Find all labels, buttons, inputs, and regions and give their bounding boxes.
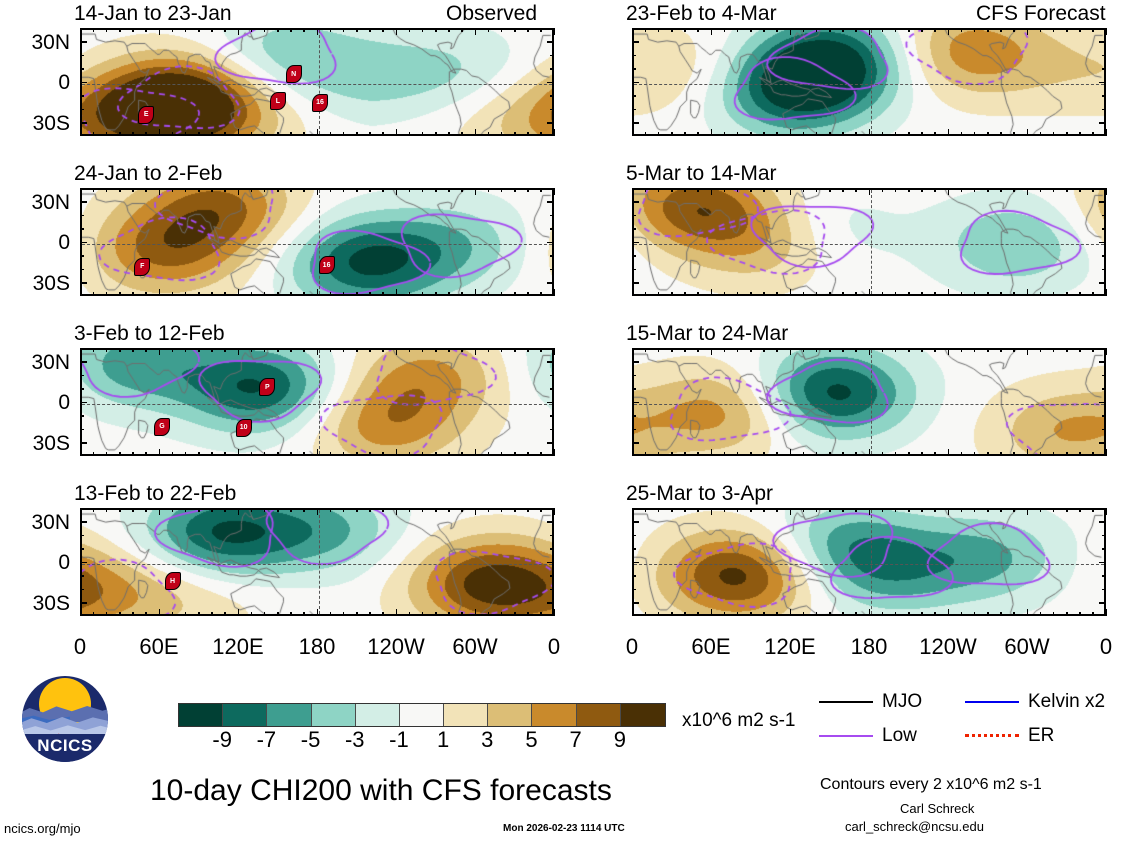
axis-tick — [448, 612, 450, 616]
axis-tick — [697, 292, 699, 296]
legend-item: Low — [819, 726, 917, 745]
axis-tick — [1102, 415, 1106, 417]
shaded-field — [82, 350, 554, 456]
axis-tick — [711, 289, 713, 296]
colorbar-tick-label: 7 — [570, 729, 582, 751]
axis-tick — [934, 292, 936, 296]
axis-tick — [790, 129, 792, 136]
axis-tick — [224, 348, 226, 352]
axis-tick — [763, 132, 765, 136]
legend-line-swatch — [965, 701, 1019, 703]
colorbar-tick-label: -1 — [389, 729, 409, 751]
axis-tick — [803, 452, 805, 456]
axis-tick — [145, 292, 147, 296]
axis-tick — [554, 449, 556, 456]
axis-tick — [948, 129, 950, 136]
axis-tick — [1066, 292, 1068, 296]
axis-tick — [80, 129, 82, 136]
axis-tick — [921, 452, 923, 456]
axis-tick — [461, 612, 463, 616]
axis-tick — [1027, 129, 1029, 136]
axis-tick — [1013, 188, 1015, 192]
axis-tick — [409, 452, 411, 456]
x-axis-tick-label: 120W — [919, 636, 976, 658]
axis-tick — [1027, 449, 1029, 456]
axis-tick — [264, 452, 266, 456]
axis-tick — [1099, 282, 1106, 284]
axis-tick — [396, 508, 398, 515]
axis-tick — [1053, 348, 1055, 352]
axis-tick — [855, 348, 857, 352]
axis-tick — [80, 242, 87, 244]
axis-tick — [396, 348, 398, 355]
axis-tick — [1092, 612, 1094, 616]
axis-tick — [330, 188, 332, 192]
axis-tick — [475, 449, 477, 456]
axis-tick — [987, 508, 989, 512]
axis-tick — [987, 132, 989, 136]
axis-tick — [422, 452, 424, 456]
axis-tick — [829, 612, 831, 616]
axis-tick — [1040, 188, 1042, 192]
axis-tick — [550, 548, 554, 550]
axis-tick — [1099, 402, 1106, 404]
axis-tick — [303, 612, 305, 616]
axis-tick — [550, 269, 554, 271]
axis-tick — [547, 402, 554, 404]
axis-tick — [1102, 109, 1106, 111]
axis-tick — [224, 292, 226, 296]
axis-tick — [658, 348, 660, 352]
axis-tick — [737, 612, 739, 616]
axis-tick — [1066, 452, 1068, 456]
axis-tick — [921, 132, 923, 136]
axis-tick — [1027, 508, 1029, 515]
axis-tick — [1000, 292, 1002, 296]
axis-tick — [1040, 612, 1042, 616]
axis-tick — [132, 132, 134, 136]
axis-tick — [475, 289, 477, 296]
axis-tick — [172, 292, 174, 296]
axis-tick — [632, 129, 634, 136]
axis-tick — [855, 292, 857, 296]
axis-tick — [1000, 508, 1002, 512]
axis-tick — [711, 348, 713, 355]
axis-tick — [763, 508, 765, 512]
axis-tick — [238, 449, 240, 456]
map-canvas: H — [80, 508, 554, 616]
axis-tick — [961, 612, 963, 616]
axis-tick — [790, 348, 792, 355]
axis-tick — [382, 132, 384, 136]
colorbar-swatch — [312, 704, 356, 726]
axis-tick — [895, 132, 897, 136]
axis-tick — [514, 292, 516, 296]
dateline-marker — [319, 190, 320, 294]
storm-marker: G — [154, 418, 170, 436]
axis-tick — [488, 188, 490, 192]
axis-tick — [763, 348, 765, 352]
axis-tick — [224, 612, 226, 616]
axis-tick — [80, 535, 84, 537]
axis-tick — [974, 132, 976, 136]
axis-tick — [1053, 612, 1055, 616]
axis-tick — [369, 132, 371, 136]
axis-tick — [303, 188, 305, 192]
legend-item: Kelvin x2 — [965, 692, 1105, 711]
axis-tick — [435, 612, 437, 616]
axis-tick — [119, 188, 121, 192]
axis-tick — [80, 201, 87, 203]
axis-tick — [790, 289, 792, 296]
axis-tick — [80, 508, 82, 515]
map-canvas: G10P — [80, 348, 554, 456]
axis-tick — [422, 188, 424, 192]
axis-tick — [185, 452, 187, 456]
axis-tick — [684, 612, 686, 616]
axis-tick — [750, 348, 752, 352]
axis-tick — [632, 255, 636, 257]
axis-tick — [987, 452, 989, 456]
axis-tick — [711, 508, 713, 515]
axis-tick — [80, 575, 84, 577]
axis-tick — [251, 348, 253, 352]
axis-tick — [185, 348, 187, 352]
contour-legend: MJOKelvin x2LowER — [0, 0, 1135, 100]
axis-tick — [882, 452, 884, 456]
colorbar-tick-label: -3 — [345, 729, 365, 751]
axis-tick — [1106, 348, 1108, 355]
axis-tick — [527, 292, 529, 296]
axis-tick — [750, 452, 752, 456]
axis-tick — [119, 292, 121, 296]
axis-tick — [547, 442, 554, 444]
axis-tick — [330, 612, 332, 616]
x-axis-tick-label: 180 — [851, 636, 888, 658]
axis-tick — [1102, 589, 1106, 591]
axis-tick — [185, 292, 187, 296]
axis-tick — [106, 348, 108, 352]
dateline-marker — [319, 350, 320, 454]
axis-tick — [550, 109, 554, 111]
x-axis-tick-label: 60W — [1004, 636, 1049, 658]
axis-tick — [343, 348, 345, 352]
axis-tick — [540, 612, 542, 616]
colorbar-swatch — [577, 704, 621, 726]
axis-tick — [895, 452, 897, 456]
axis-tick — [501, 452, 503, 456]
axis-tick — [987, 292, 989, 296]
x-axis-tick-label: 0 — [626, 636, 638, 658]
axis-tick — [974, 452, 976, 456]
axis-tick — [632, 609, 634, 616]
axis-tick — [908, 292, 910, 296]
axis-tick — [185, 188, 187, 192]
y-axis-tick-label: 0 — [0, 552, 70, 573]
axis-tick — [264, 132, 266, 136]
axis-tick — [1102, 575, 1106, 577]
axis-tick — [475, 609, 477, 616]
axis-tick — [1106, 508, 1108, 515]
axis-tick — [290, 452, 292, 456]
axis-tick — [869, 188, 871, 195]
x-axis-tick-label: 120W — [367, 636, 424, 658]
axis-tick — [632, 375, 636, 377]
equator-line — [634, 404, 1104, 405]
axis-tick — [842, 188, 844, 192]
axis-tick — [501, 132, 503, 136]
axis-tick — [632, 188, 634, 195]
axis-tick — [369, 348, 371, 352]
axis-tick — [211, 348, 213, 352]
axis-tick — [198, 508, 200, 512]
axis-tick — [632, 415, 636, 417]
axis-tick — [514, 188, 516, 192]
axis-tick — [409, 188, 411, 192]
axis-tick — [540, 348, 542, 352]
axis-tick — [1053, 292, 1055, 296]
axis-tick — [330, 508, 332, 512]
axis-tick — [356, 508, 358, 512]
axis-tick — [1092, 132, 1094, 136]
axis-tick — [356, 188, 358, 192]
axis-tick — [264, 292, 266, 296]
axis-tick — [882, 612, 884, 616]
colorbar-swatch — [532, 704, 576, 726]
axis-tick — [132, 612, 134, 616]
axis-tick — [80, 282, 87, 284]
axis-tick — [724, 132, 726, 136]
axis-tick — [238, 609, 240, 616]
axis-tick — [750, 508, 752, 512]
axis-tick — [632, 442, 639, 444]
axis-tick — [658, 452, 660, 456]
axis-tick — [1027, 188, 1029, 195]
axis-tick — [948, 449, 950, 456]
axis-tick — [1102, 255, 1106, 257]
axis-tick — [829, 292, 831, 296]
axis-tick — [409, 132, 411, 136]
axis-tick — [658, 612, 660, 616]
axis-tick — [475, 188, 477, 195]
axis-tick — [238, 508, 240, 515]
axis-tick — [790, 449, 792, 456]
axis-tick — [80, 255, 84, 257]
axis-tick — [987, 348, 989, 352]
axis-tick — [132, 348, 134, 352]
axis-tick — [632, 388, 636, 390]
axis-tick — [382, 612, 384, 616]
axis-tick — [1079, 188, 1081, 192]
axis-tick — [632, 289, 634, 296]
axis-tick — [724, 292, 726, 296]
axis-tick — [303, 132, 305, 136]
axis-tick — [934, 188, 936, 192]
axis-tick — [448, 188, 450, 192]
colorbar-tick-label: 3 — [481, 729, 493, 751]
axis-tick — [461, 188, 463, 192]
axis-tick — [684, 508, 686, 512]
axis-tick — [869, 449, 871, 456]
axis-tick — [908, 188, 910, 192]
axis-tick — [514, 508, 516, 512]
axis-tick — [961, 452, 963, 456]
axis-tick — [224, 508, 226, 512]
axis-tick — [632, 535, 636, 537]
axis-tick — [1027, 609, 1029, 616]
shaded-field — [634, 350, 1106, 456]
axis-tick — [1079, 508, 1081, 512]
equator-line — [82, 564, 552, 565]
axis-tick — [475, 508, 477, 515]
axis-tick — [1040, 508, 1042, 512]
axis-tick — [790, 609, 792, 616]
axis-tick — [645, 452, 647, 456]
axis-tick — [882, 508, 884, 512]
website-url: ncics.org/mjo — [4, 822, 81, 836]
colorbar-tick-label: 5 — [525, 729, 537, 751]
axis-tick — [1102, 429, 1106, 431]
colorbar-tick-label: -5 — [301, 729, 321, 751]
axis-tick — [711, 449, 713, 456]
axis-tick — [1092, 348, 1094, 352]
map-canvas — [632, 188, 1106, 296]
axis-tick — [816, 292, 818, 296]
axis-tick — [514, 452, 516, 456]
axis-tick — [632, 548, 636, 550]
axis-tick — [948, 188, 950, 195]
axis-tick — [658, 188, 660, 192]
axis-tick — [987, 188, 989, 192]
axis-tick — [697, 348, 699, 352]
axis-tick — [145, 452, 147, 456]
axis-tick — [396, 129, 398, 136]
axis-tick — [330, 452, 332, 456]
axis-tick — [921, 348, 923, 352]
axis-tick — [934, 508, 936, 512]
axis-tick — [106, 188, 108, 192]
y-axis-tick-label: 30N — [0, 192, 70, 213]
panel-title: 25-Mar to 3-Apr — [626, 483, 773, 504]
axis-tick — [1040, 292, 1042, 296]
axis-tick — [550, 375, 554, 377]
axis-tick — [1106, 129, 1108, 136]
axis-tick — [303, 452, 305, 456]
axis-tick — [106, 132, 108, 136]
axis-tick — [632, 562, 639, 564]
axis-tick — [238, 129, 240, 136]
axis-tick — [776, 452, 778, 456]
axis-tick — [547, 562, 554, 564]
axis-tick — [1013, 452, 1015, 456]
axis-tick — [632, 109, 636, 111]
axis-tick — [238, 188, 240, 195]
axis-tick — [895, 612, 897, 616]
axis-tick — [829, 132, 831, 136]
axis-tick — [159, 289, 161, 296]
axis-tick — [1013, 508, 1015, 512]
axis-tick — [435, 348, 437, 352]
axis-tick — [750, 292, 752, 296]
axis-tick — [632, 269, 636, 271]
axis-tick — [461, 452, 463, 456]
axis-tick — [842, 132, 844, 136]
axis-tick — [684, 348, 686, 352]
axis-tick — [382, 508, 384, 512]
axis-tick — [488, 132, 490, 136]
axis-tick — [80, 188, 82, 195]
shaded-field — [634, 190, 1106, 296]
axis-tick — [882, 132, 884, 136]
axis-tick — [921, 292, 923, 296]
axis-tick — [198, 188, 200, 192]
axis-tick — [382, 452, 384, 456]
axis-tick — [396, 289, 398, 296]
axis-tick — [1099, 562, 1106, 564]
axis-tick — [80, 589, 84, 591]
axis-tick — [448, 292, 450, 296]
axis-tick — [461, 348, 463, 352]
axis-tick — [1053, 132, 1055, 136]
axis-tick — [921, 508, 923, 512]
axis-tick — [776, 188, 778, 192]
x-axis-tick-label: 120E — [212, 636, 263, 658]
axis-tick — [80, 602, 87, 604]
axis-tick — [159, 449, 161, 456]
axis-tick — [80, 442, 87, 444]
axis-tick — [842, 612, 844, 616]
axis-tick — [547, 361, 554, 363]
axis-tick — [119, 348, 121, 352]
axis-tick — [750, 188, 752, 192]
axis-tick — [645, 188, 647, 192]
ncics-logo: NCICS — [22, 676, 108, 762]
axis-tick — [1099, 242, 1106, 244]
colorbar-swatch — [356, 704, 400, 726]
axis-tick — [1027, 348, 1029, 355]
axis-tick — [448, 132, 450, 136]
axis-tick — [106, 508, 108, 512]
axis-tick — [1102, 548, 1106, 550]
axis-tick — [895, 292, 897, 296]
axis-tick — [435, 452, 437, 456]
axis-tick — [251, 188, 253, 192]
axis-tick — [540, 188, 542, 192]
axis-tick — [80, 521, 87, 523]
axis-tick — [550, 535, 554, 537]
axis-tick — [550, 215, 554, 217]
axis-tick — [711, 609, 713, 616]
axis-tick — [1106, 449, 1108, 456]
x-axis-tick-label: 60W — [452, 636, 497, 658]
axis-tick — [540, 132, 542, 136]
axis-tick — [803, 348, 805, 352]
colorbar-tick-label: 9 — [614, 729, 626, 751]
axis-tick — [514, 132, 516, 136]
axis-tick — [172, 508, 174, 512]
axis-tick — [697, 188, 699, 192]
axis-tick — [842, 508, 844, 512]
axis-tick — [303, 508, 305, 512]
legend-item: ER — [965, 726, 1054, 745]
axis-tick — [737, 508, 739, 512]
axis-tick — [1040, 348, 1042, 352]
axis-tick — [369, 508, 371, 512]
axis-tick — [106, 292, 108, 296]
axis-tick — [80, 122, 87, 124]
axis-tick — [632, 575, 636, 577]
axis-tick — [172, 612, 174, 616]
